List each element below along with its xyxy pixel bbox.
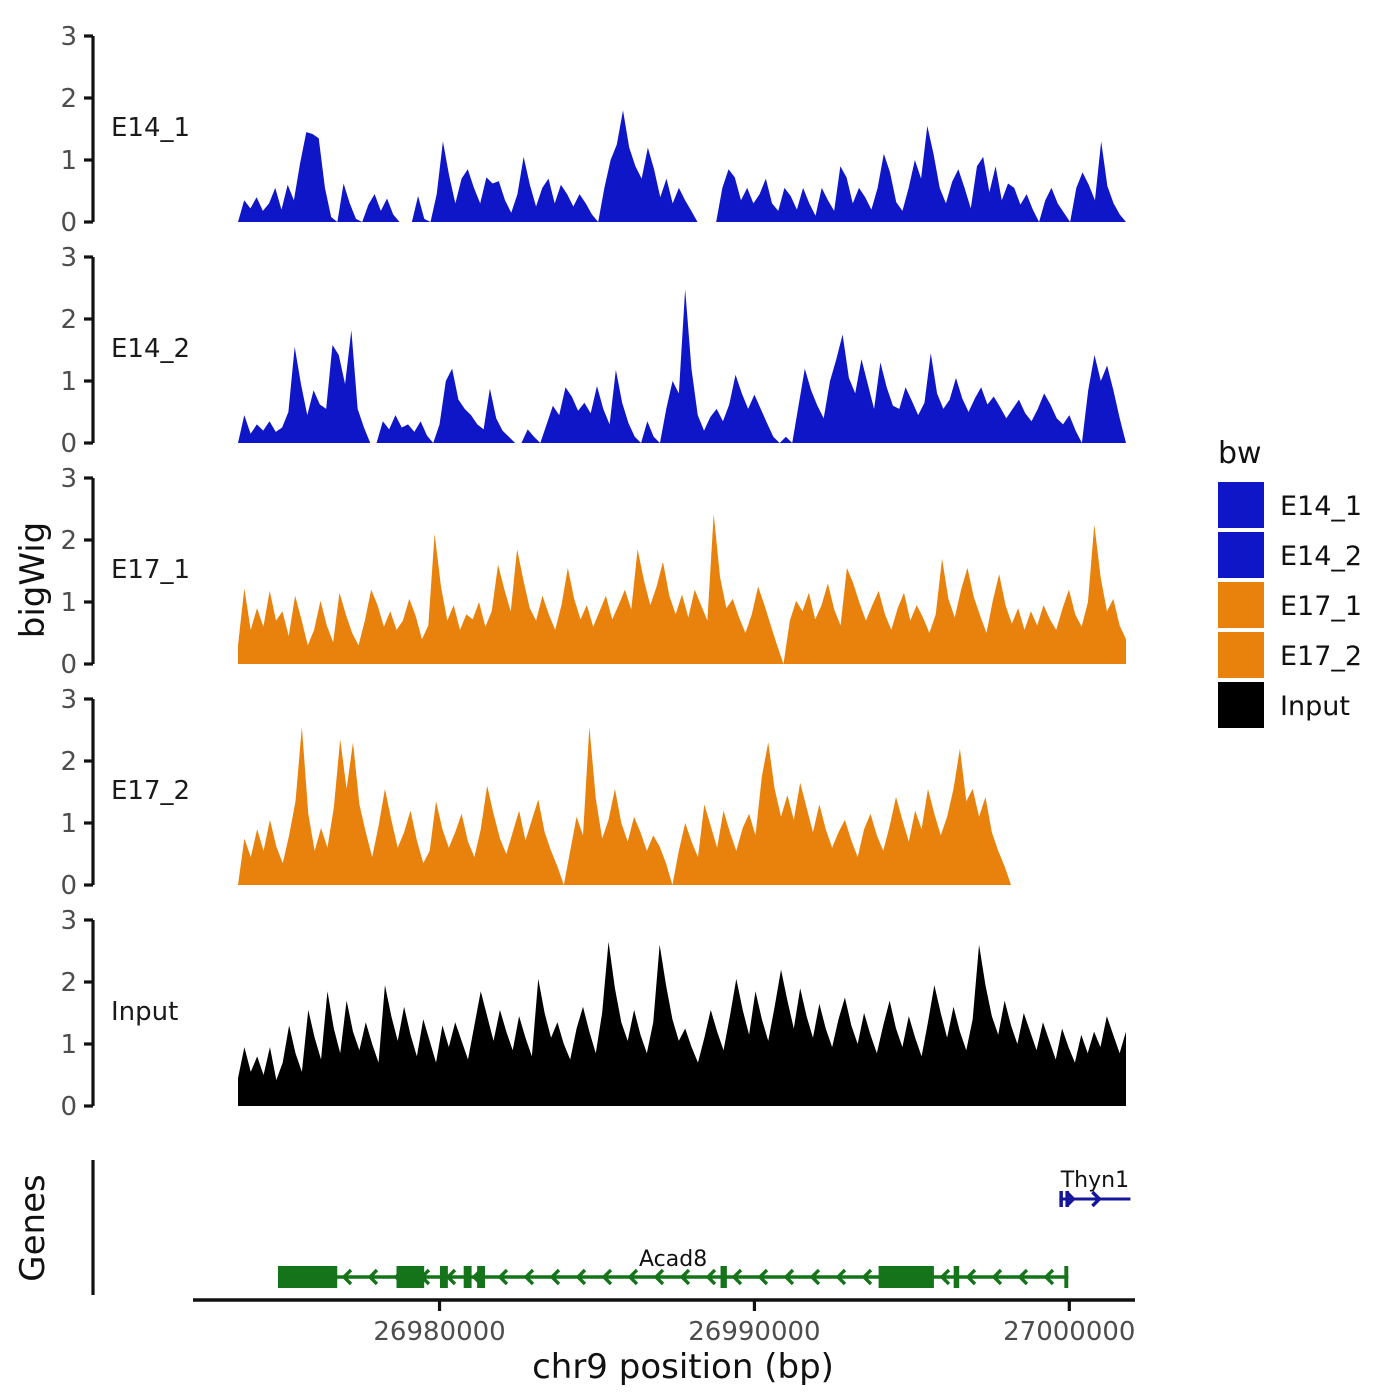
y-tick-label: 0: [60, 429, 77, 459]
gene-exon: [477, 1266, 485, 1288]
legend-label: E14_2: [1280, 541, 1362, 572]
legend-item-e17_1[interactable]: E17_1: [1218, 582, 1362, 628]
x-axis: 269800002699000027000000: [193, 1300, 1135, 1347]
gene-exon: [954, 1266, 960, 1288]
y-tick-label: 2: [60, 305, 77, 335]
track-area-e14_1: [238, 132, 399, 222]
y-tick-label: 1: [60, 588, 77, 618]
legend-swatch: [1218, 482, 1264, 528]
legend-swatch: [1218, 582, 1264, 628]
y-tick-label: 2: [60, 84, 77, 114]
track-label-input: Input: [111, 997, 178, 1027]
legend-label: E14_1: [1280, 491, 1362, 522]
genome-browser-figure: bigWig Genes 0123E14_10123E14_20123E17_1…: [0, 0, 1400, 1400]
track-area-e14_1: [716, 126, 1126, 222]
y-axis-title: bigWig: [13, 522, 53, 639]
y-tick-label: 1: [60, 367, 77, 397]
legend-swatch: [1218, 632, 1264, 678]
x-tick-label: 27000000: [1003, 1317, 1135, 1347]
gene-exon: [278, 1266, 337, 1288]
y-tick-label: 3: [60, 464, 77, 494]
track-area-e14_2: [238, 330, 370, 443]
y-tick-label: 3: [60, 685, 77, 715]
gene-exon: [397, 1266, 425, 1288]
legend-item-e14_1[interactable]: E14_1: [1218, 482, 1362, 528]
legend-label: E17_2: [1280, 641, 1362, 672]
track-area-e17_2: [238, 727, 1011, 885]
legend-label: Input: [1280, 691, 1350, 722]
y-tick-label: 3: [60, 906, 77, 936]
legend-label: E17_1: [1280, 591, 1362, 622]
legend-item-e14_2[interactable]: E14_2: [1218, 532, 1362, 578]
gene-acad8[interactable]: Acad8: [278, 1247, 1068, 1288]
track-area-e17_1: [238, 514, 1126, 664]
x-tick-label: 26980000: [373, 1317, 505, 1347]
gene-label-thyn1: Thyn1: [1060, 1168, 1129, 1193]
y-tick-label: 2: [60, 968, 77, 998]
gene-exon: [1065, 1191, 1069, 1207]
track-area-e14_1: [412, 110, 698, 222]
y-tick-label: 0: [60, 650, 77, 680]
y-tick-label: 0: [60, 871, 77, 901]
gene-panel: Thyn1Acad8: [93, 1160, 1130, 1295]
track-panels: 0123E14_10123E14_20123E17_10123E17_20123…: [60, 22, 1126, 1122]
track-panel-input: 0123Input: [60, 906, 1126, 1122]
gene-label-acad8: Acad8: [639, 1247, 707, 1272]
gene-exon: [1059, 1191, 1063, 1207]
track-label-e17_2: E17_2: [111, 776, 190, 806]
y-tick-label: 1: [60, 809, 77, 839]
y-tick-label: 0: [60, 208, 77, 238]
track-panel-e14_2: 0123E14_2: [60, 243, 1126, 459]
y-tick-label: 2: [60, 747, 77, 777]
x-tick-label: 26990000: [688, 1317, 820, 1347]
y-axis-title-group: bigWig: [13, 522, 53, 639]
genes-axis-title-group: Genes: [13, 1174, 53, 1281]
track-panel-e14_1: 0123E14_1: [60, 22, 1126, 238]
gene-exon: [464, 1266, 472, 1288]
gene-thyn1[interactable]: Thyn1: [1059, 1168, 1130, 1207]
track-label-e14_2: E14_2: [111, 334, 190, 364]
y-tick-label: 0: [60, 1092, 77, 1122]
gene-exon: [879, 1266, 934, 1288]
x-axis-title: chr9 position (bp): [532, 1347, 834, 1387]
y-tick-label: 1: [60, 146, 77, 176]
gene-exon: [440, 1266, 448, 1288]
legend-swatch: [1218, 532, 1264, 578]
legend-swatch: [1218, 682, 1264, 728]
legend-item-input[interactable]: Input: [1218, 682, 1350, 728]
track-area-input: [238, 942, 1126, 1106]
y-tick-label: 1: [60, 1030, 77, 1060]
genes-axis-title: Genes: [13, 1174, 53, 1281]
y-tick-label: 2: [60, 526, 77, 556]
track-area-e14_2: [521, 289, 1126, 443]
track-panel-e17_2: 0123E17_2: [60, 685, 1011, 901]
y-tick-label: 3: [60, 243, 77, 273]
figure-root: bigWig Genes 0123E14_10123E14_20123E17_1…: [0, 0, 1400, 1400]
legend: bwE14_1E14_2E17_1E17_2Input: [1218, 436, 1362, 728]
legend-item-e17_2[interactable]: E17_2: [1218, 632, 1362, 678]
track-label-e17_1: E17_1: [111, 555, 190, 585]
track-panel-e17_1: 0123E17_1: [60, 464, 1126, 680]
gene-exon: [721, 1266, 727, 1288]
legend-title: bw: [1218, 436, 1262, 471]
gene-exon: [1064, 1266, 1068, 1288]
y-tick-label: 3: [60, 22, 77, 52]
track-area-e14_2: [377, 369, 516, 443]
track-label-e14_1: E14_1: [111, 113, 190, 143]
